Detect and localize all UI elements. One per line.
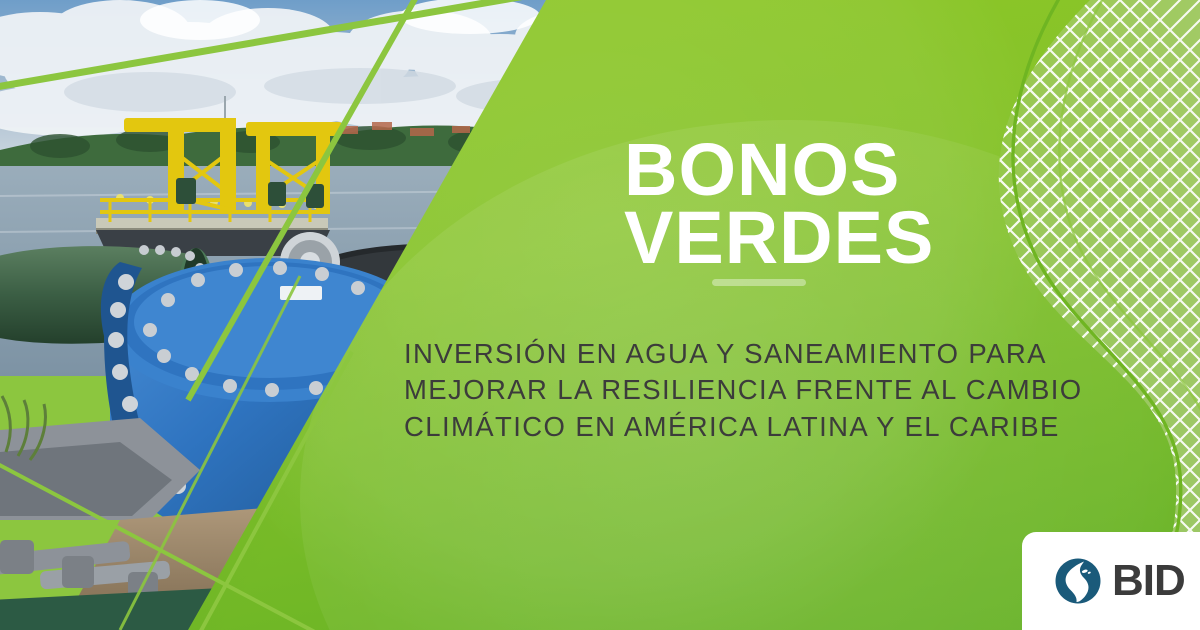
- title-line-2: VERDES: [624, 204, 1144, 272]
- page-title: BONOS VERDES: [624, 136, 1144, 272]
- title-underline-rule: [712, 279, 806, 286]
- logo-wordmark: BID: [1112, 559, 1185, 603]
- subtitle-text: Inversión en agua y saneamiento para mej…: [404, 336, 1084, 445]
- banner-canvas: BONOS VERDES Inversión en agua y saneami…: [0, 0, 1200, 630]
- logo-plate[interactable]: BID: [1022, 532, 1200, 630]
- idb-americas-mark-icon: [1054, 557, 1102, 605]
